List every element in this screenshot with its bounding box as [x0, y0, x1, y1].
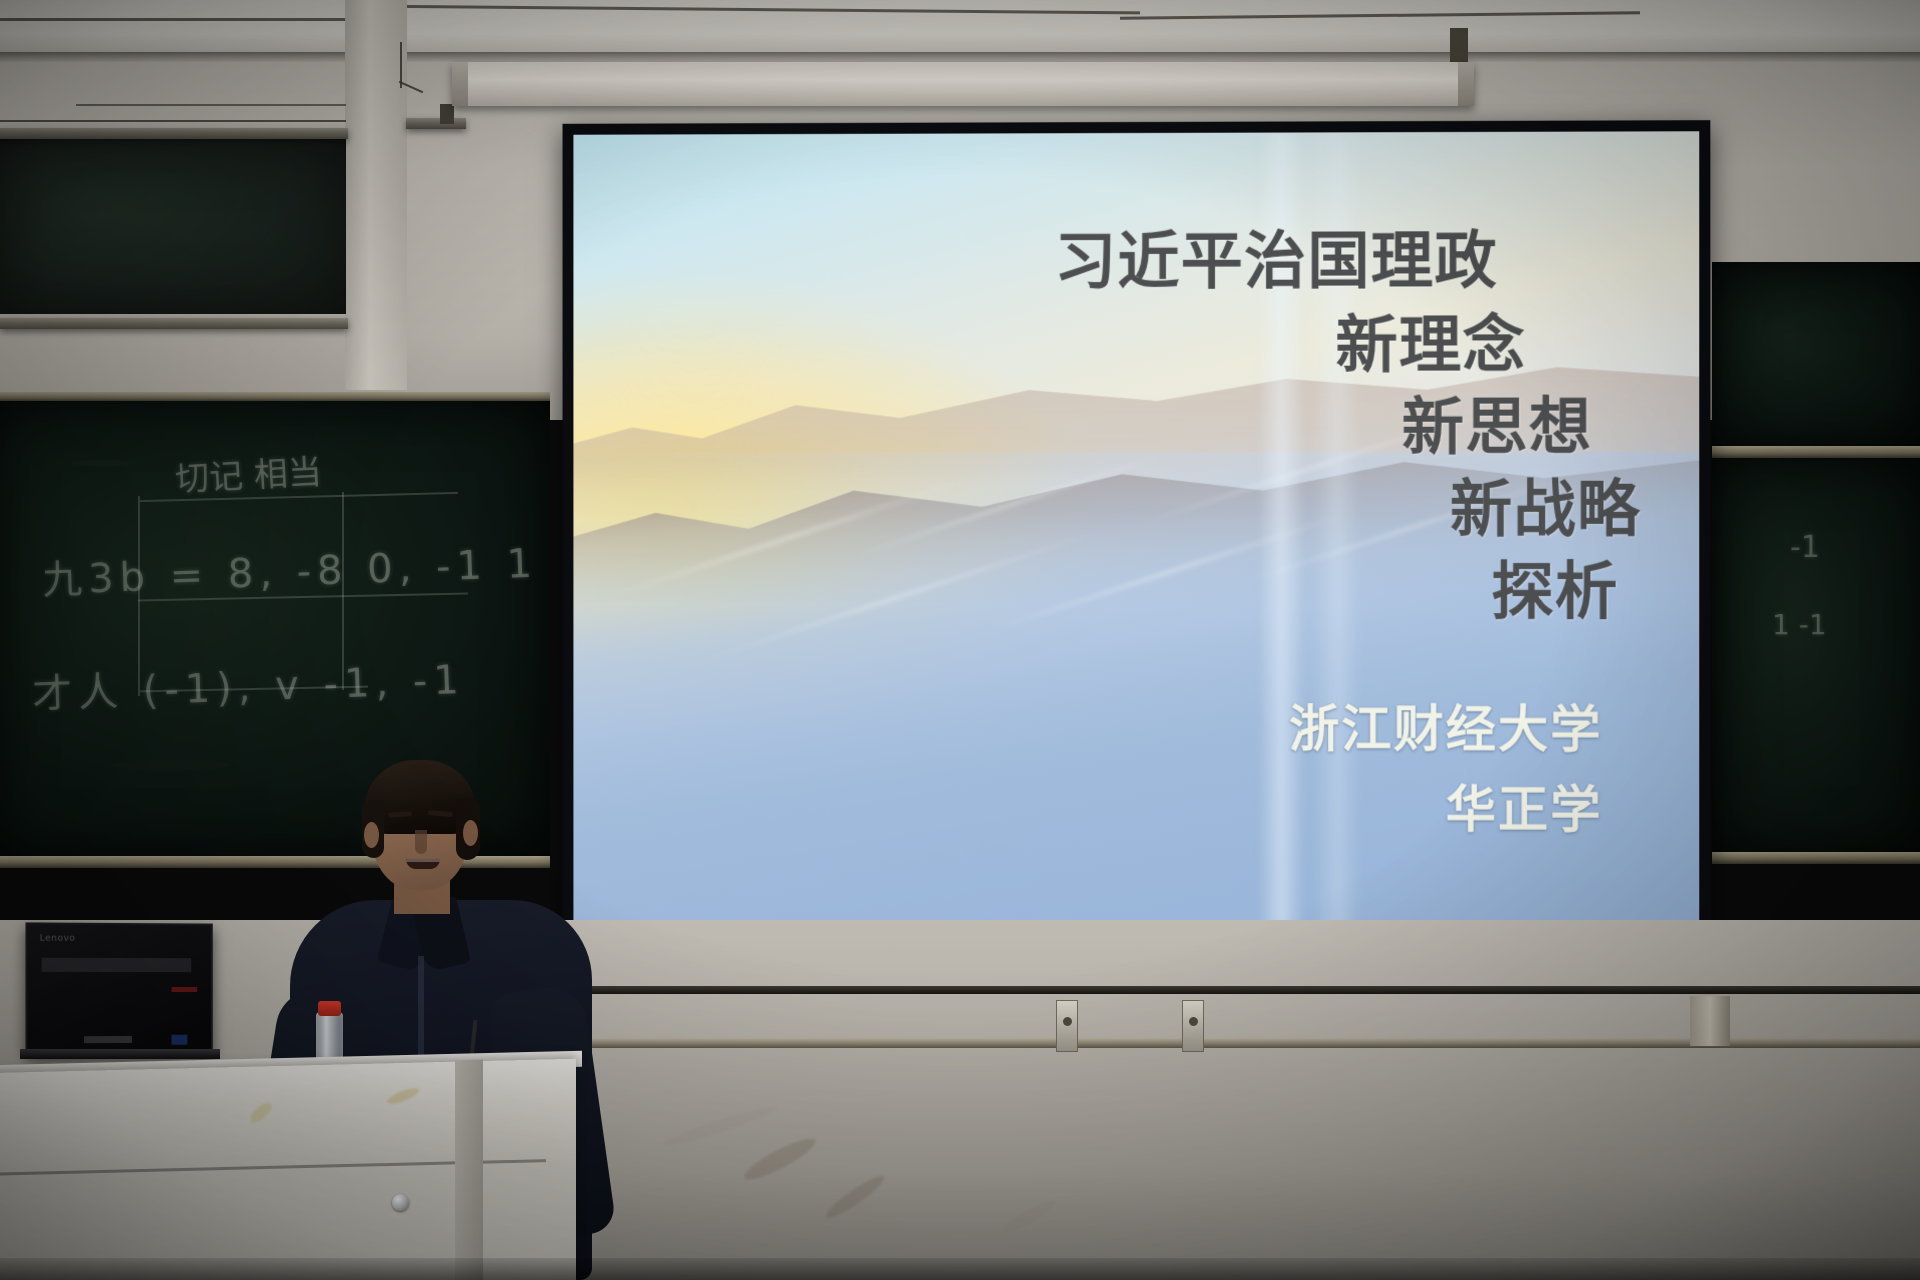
wall-molding — [0, 318, 348, 329]
laptop-hinge — [20, 1049, 220, 1059]
chalk-rule — [140, 686, 368, 693]
blackboard-right-upper — [1712, 262, 1920, 452]
wall-molding — [0, 128, 348, 139]
slide-title-line-3: 新思想 — [1402, 376, 1593, 466]
slide-title-line-4: 新战略 — [1450, 459, 1641, 549]
wall-bracket — [1182, 1000, 1204, 1052]
wall-molding — [406, 118, 466, 129]
slide-title-line-5: 探析 — [1491, 541, 1618, 631]
chalk-text-line-3: 才人 (-1), v -1, -1 — [31, 647, 466, 720]
presenter-mouth — [406, 859, 440, 869]
chalk-text-right-2: 1 -1 — [1772, 608, 1827, 641]
laptop-red-indicator — [172, 987, 198, 992]
water-bottle-cap[interactable] — [318, 1001, 341, 1016]
screen-roller-housing — [452, 62, 1474, 106]
blackboard-right-upper-frame — [1712, 446, 1920, 458]
wall-pillar — [345, 0, 407, 390]
classroom-photo: 切记 相当 九3b = 8, -8 0, -1 1 才人 (-1), v -1,… — [0, 0, 1920, 1280]
slide-presenter: 华正学 — [1446, 769, 1603, 841]
chalk-text-line-2: 九3b = 8, -8 0, -1 1 — [41, 531, 539, 606]
chalk-rule — [342, 492, 344, 690]
housing-endcap — [1458, 62, 1474, 106]
blackboard-right-lower: -1 1 -1 — [1712, 458, 1920, 858]
blackboard-right-lower-frame — [1712, 852, 1920, 864]
wall-column-trim — [1690, 996, 1730, 1046]
presenter-nose — [415, 830, 427, 854]
floor-shadow — [0, 1258, 1920, 1280]
laptop[interactable]: Lenovo — [25, 922, 212, 1055]
podium-mark — [247, 1099, 275, 1125]
chalk-smudge — [70, 460, 130, 466]
laptop-blue-indicator — [172, 1035, 188, 1045]
wall-seam — [0, 120, 346, 122]
chalk-smudge — [110, 760, 230, 770]
chalk-rule — [140, 492, 458, 502]
slide-text-block: 习近平治国理政 新理念 新思想 新战略 探析 浙江财经大学 华正学 — [573, 131, 1699, 975]
laptop-touchpad[interactable] — [84, 1036, 132, 1043]
slide-title-line-1: 习近平治国理政 — [1054, 210, 1498, 301]
presenter-ear — [364, 822, 379, 848]
projected-slide: 习近平治国理政 新理念 新思想 新战略 探析 浙江财经大学 华正学 — [573, 131, 1699, 975]
podium-side-panel — [455, 1060, 483, 1280]
presenter-eye — [430, 822, 449, 829]
ceiling-conduit — [0, 18, 370, 21]
slide-affiliation: 浙江财经大学 — [1289, 689, 1602, 762]
podium-mark — [385, 1085, 420, 1107]
wall-seam — [76, 104, 346, 106]
chalk-rule — [138, 496, 140, 696]
projection-screen: 习近平治国理政 新理念 新思想 新战略 探析 浙江财经大学 华正学 — [563, 120, 1711, 988]
laptop-brand-logo: Lenovo — [40, 934, 76, 944]
blackboard-left-upper — [0, 139, 346, 314]
chalk-text-line-1: 切记 相当 — [174, 444, 323, 501]
presenter-eye — [391, 823, 410, 830]
screen-mount-bracket — [440, 104, 454, 124]
slide-title-line-2: 新理念 — [1336, 294, 1527, 384]
ceiling-shadow — [0, 52, 1920, 62]
chalk-rule — [138, 593, 468, 602]
screen-shadow-rail — [560, 986, 1920, 994]
wall-bracket — [1056, 1000, 1078, 1052]
blackboard-left-frame-top — [0, 392, 550, 401]
chalk-text-right-1: -1 — [1790, 530, 1820, 565]
presenter-ear — [463, 820, 478, 846]
housing-endcap — [452, 62, 468, 106]
laptop-screen-band — [42, 958, 192, 972]
